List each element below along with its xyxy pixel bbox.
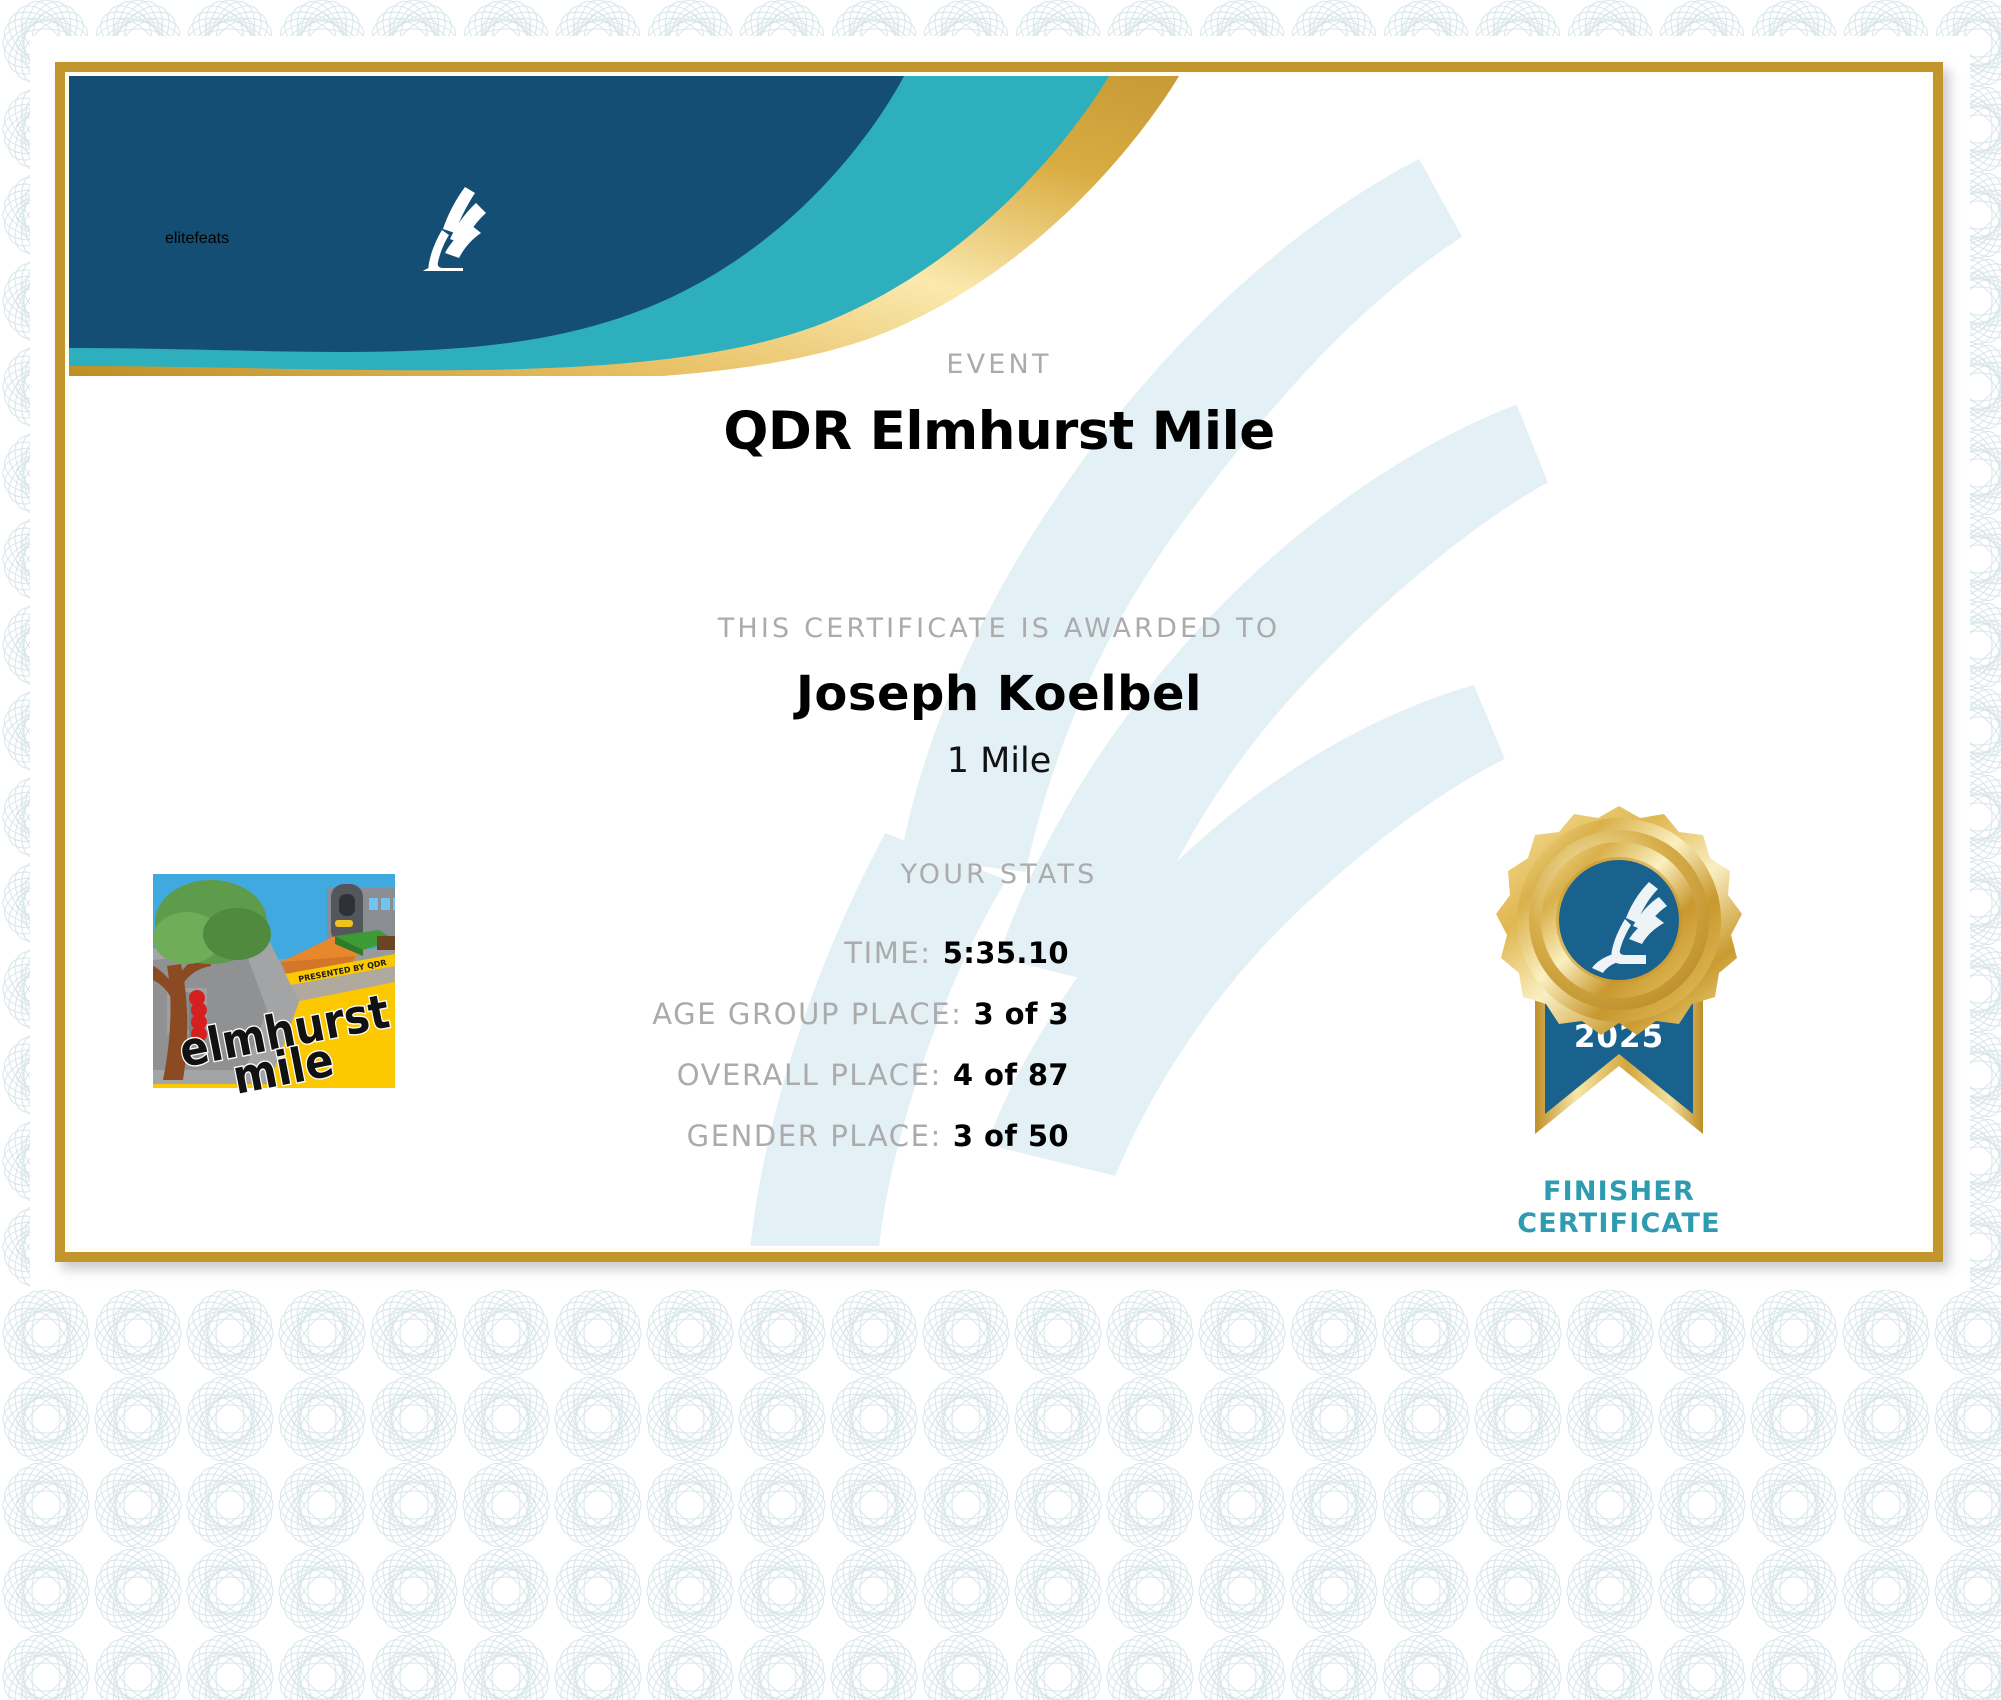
certificate-paper: elitefeats EVENT QDR Elmhurst Mile THIS … bbox=[69, 76, 1929, 1248]
certificate-page: elitefeats EVENT QDR Elmhurst Mile THIS … bbox=[0, 0, 2001, 1700]
stat-label: OVERALL PLACE: bbox=[677, 1058, 942, 1092]
recipient-name: Joseph Koelbel bbox=[69, 666, 1929, 722]
certificate-frame: elitefeats EVENT QDR Elmhurst Mile THIS … bbox=[55, 62, 1943, 1262]
stat-value: 4 of 87 bbox=[953, 1058, 1069, 1092]
certificate-content: EVENT QDR Elmhurst Mile THIS CERTIFICATE… bbox=[69, 76, 1929, 1248]
stat-label: TIME: bbox=[844, 936, 931, 970]
finisher-caption-line2: CERTIFICATE bbox=[1459, 1208, 1779, 1240]
event-kicker-label: EVENT bbox=[69, 349, 1929, 380]
finisher-medal: 2025 bbox=[1489, 804, 1749, 1194]
stat-row: GENDER PLACE: 3 of 50 bbox=[69, 1119, 1069, 1153]
stat-label: GENDER PLACE: bbox=[687, 1119, 942, 1153]
stat-label: AGE GROUP PLACE: bbox=[652, 997, 962, 1031]
medal-rosette bbox=[1496, 806, 1742, 1035]
awarded-to-kicker-label: THIS CERTIFICATE IS AWARDED TO bbox=[69, 613, 1929, 644]
event-logo-image: PRESENTED BY QDR elmhurst mile bbox=[149, 870, 399, 1095]
stat-value: 5:35.10 bbox=[943, 936, 1069, 970]
stat-value: 3 of 50 bbox=[953, 1119, 1069, 1153]
recipient-distance: 1 Mile bbox=[69, 741, 1929, 781]
finisher-caption-line1: FINISHER bbox=[1459, 1176, 1779, 1208]
event-name: QDR Elmhurst Mile bbox=[69, 401, 1929, 462]
stat-value: 3 of 3 bbox=[974, 997, 1070, 1031]
finisher-certificate-caption: FINISHER CERTIFICATE bbox=[1459, 1176, 1779, 1240]
